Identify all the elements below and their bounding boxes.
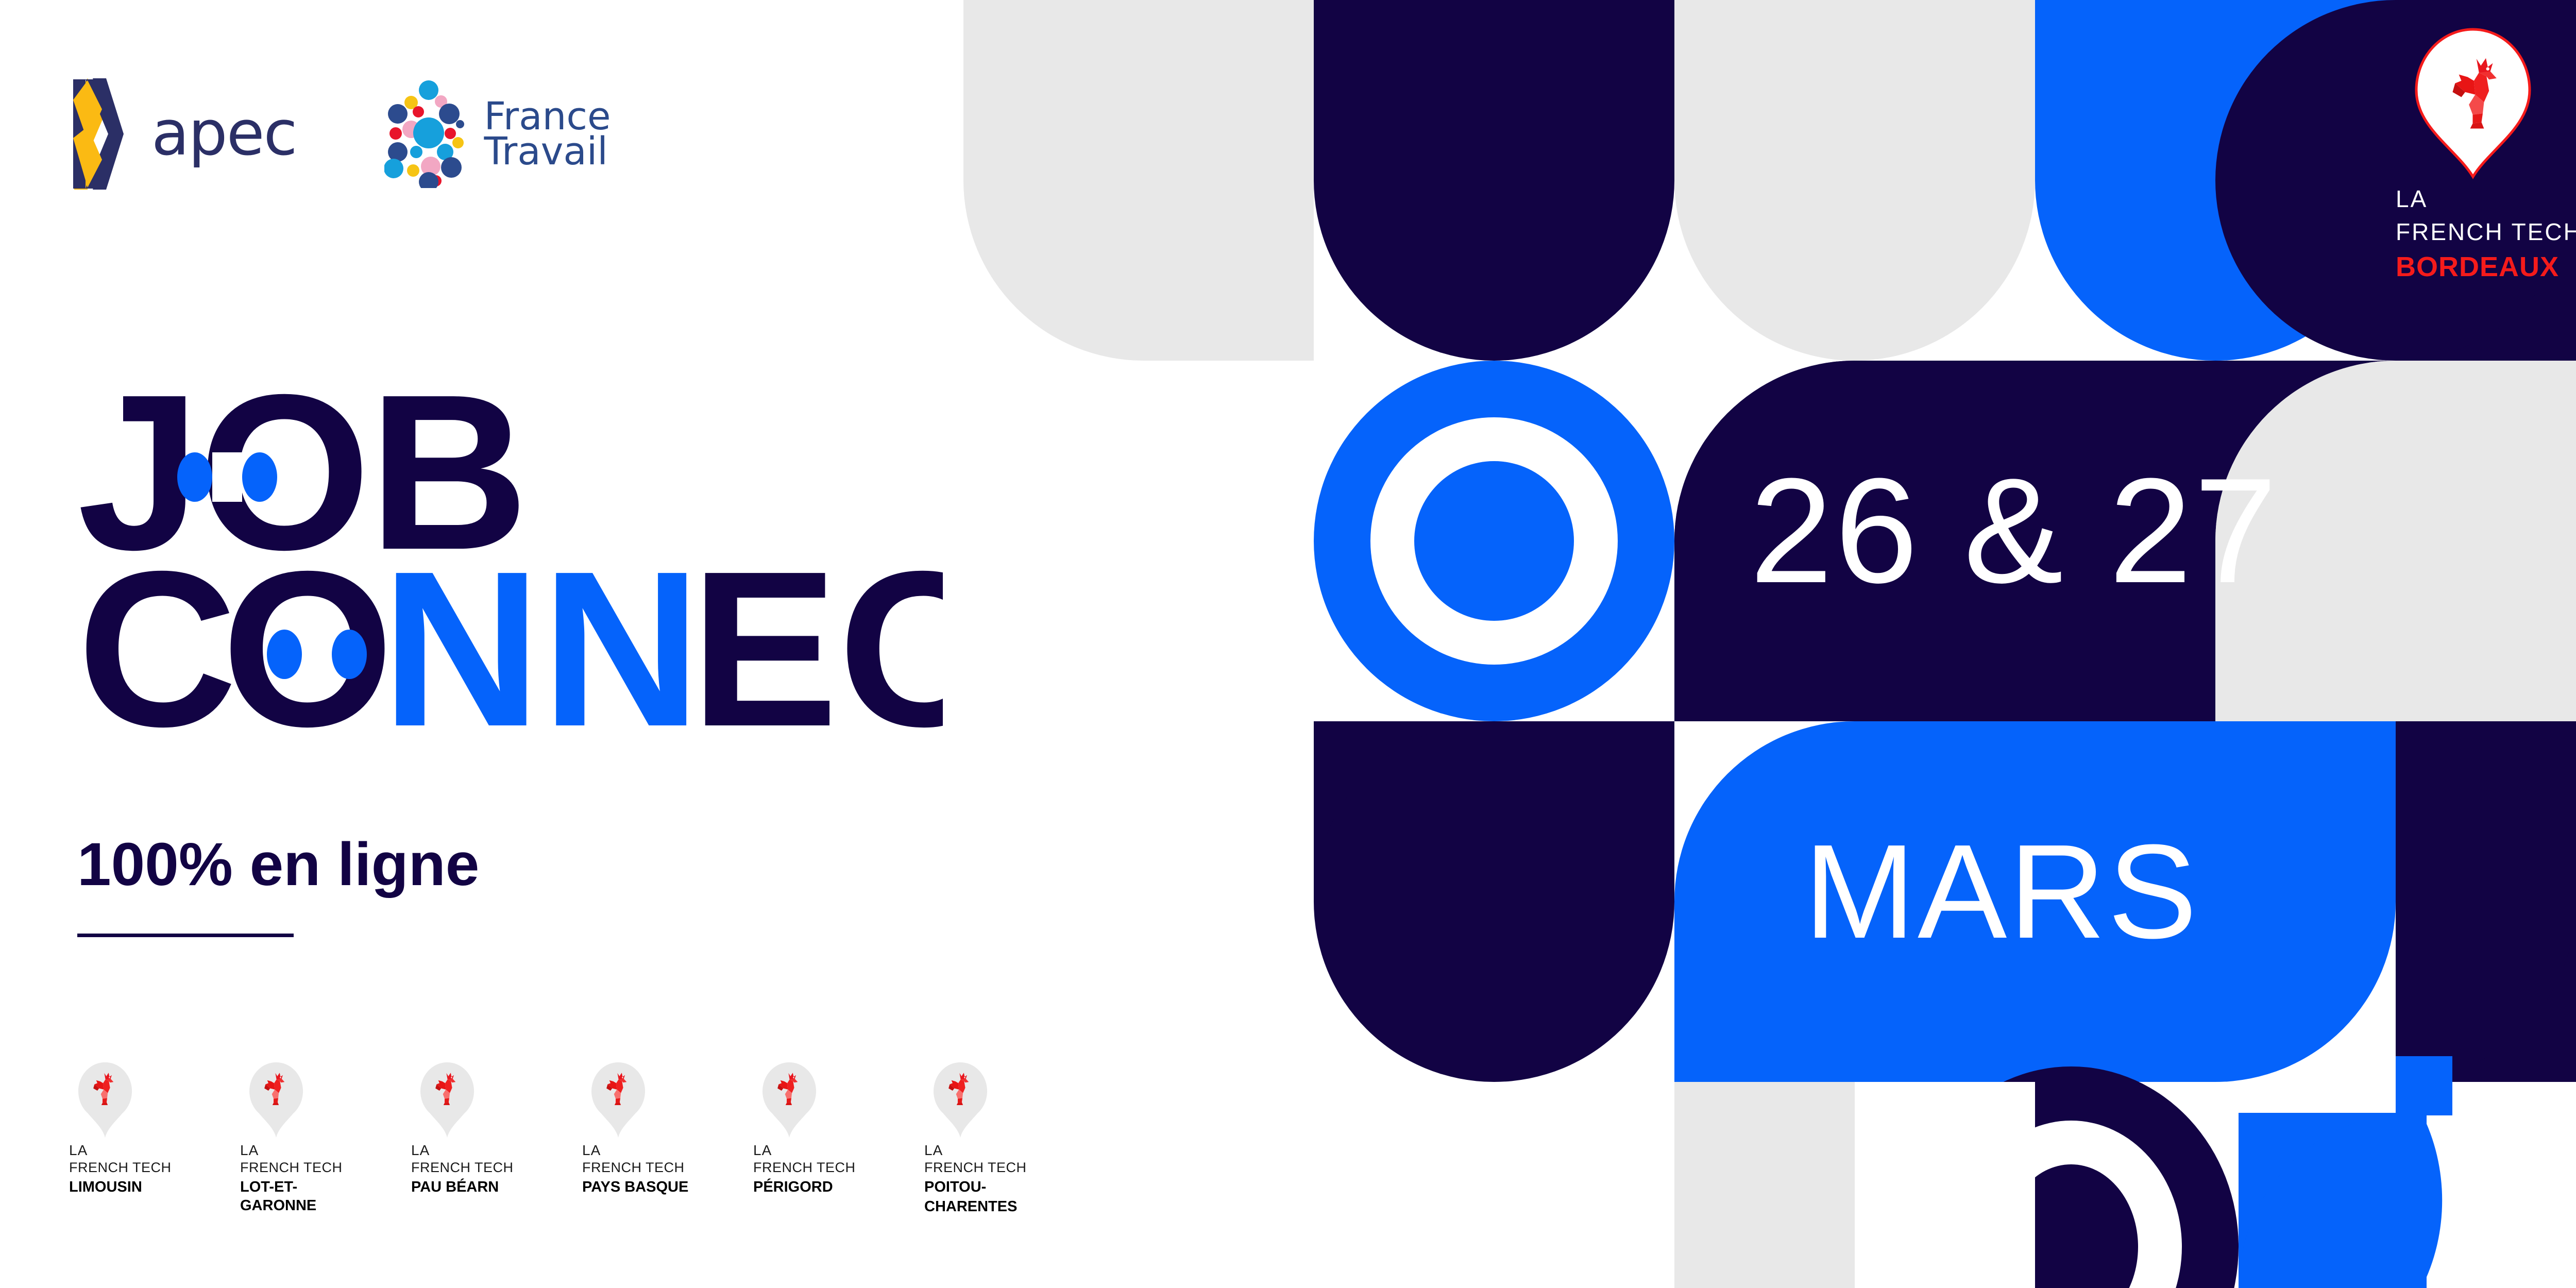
french-tech-rooster-pin-icon [929, 1061, 991, 1139]
shape-blue-ring-r2c2 [1314, 361, 1674, 721]
french-tech-rooster-pin-icon [74, 1061, 136, 1139]
badge-city: BORDEAUX [2396, 251, 2559, 282]
title-job-dot-left [177, 452, 212, 502]
apec-logo: apec [72, 77, 297, 191]
partner-logos: apec [72, 77, 611, 191]
france-travail-dots-logo-icon [384, 80, 472, 188]
gutter-white-3 [1314, 1082, 1674, 1288]
ft-french-tech-text: FRENCH TECH [411, 1159, 522, 1177]
french-tech-community-label: LA FRENCH TECH LIMOUSIN [69, 1143, 180, 1196]
ft-city-text: PÉRIGORD [753, 1178, 865, 1196]
french-tech-community-item: LA FRENCH TECH PAYS BASQUE [580, 1061, 693, 1216]
ft-french-tech-text: FRENCH TECH [240, 1159, 351, 1177]
french-tech-community-item: LA FRENCH TECH LIMOUSIN [67, 1061, 180, 1216]
event-dates: 26 & 27 [1750, 447, 2279, 614]
geometric-pattern-panel: 26 & 27 MARS LA FRENCH TECH BORDEAUX [953, 0, 2576, 1288]
tagline-underline [77, 934, 294, 937]
french-tech-community-label: LA FRENCH TECH POITOU- CHARENTES [924, 1143, 1036, 1216]
gutter-white-1 [953, 361, 1314, 721]
ft-la-text: LA [924, 1143, 1036, 1159]
shape-navy-oval-r1c2 [1314, 0, 1674, 361]
france-travail-line2: Travail [484, 134, 611, 169]
gutter-white-4 [1855, 1082, 2035, 1288]
shape-blue-month-block-r [2215, 721, 2396, 1082]
ft-city-text: LIMOUSIN [69, 1178, 180, 1196]
french-tech-community-item: LA FRENCH TECH PÉRIGORD [751, 1061, 865, 1216]
shape-grey-oval-r1c3 [1674, 0, 2035, 361]
left-content-panel: apec [0, 0, 979, 1288]
ft-french-tech-text: FRENCH TECH [69, 1159, 180, 1177]
title-tagline: 100% en ligne [77, 829, 479, 900]
france-travail-line1: France [484, 99, 611, 134]
title-connect-dot-right [332, 630, 367, 679]
french-tech-communities-strip: LA FRENCH TECH LIMOUSIN [67, 1061, 1036, 1216]
ft-french-tech-text: FRENCH TECH [753, 1159, 865, 1177]
title-connect-c1: C [77, 545, 238, 761]
ft-city-text: PAYS BASQUE [582, 1178, 693, 1196]
france-travail-logo: France Travail [384, 80, 611, 188]
ft-la-text: LA [582, 1143, 693, 1159]
title-line-connect: C O NN ECT [77, 545, 943, 761]
apec-chevron-logo-icon [72, 77, 134, 191]
french-tech-rooster-pin-icon [758, 1061, 820, 1139]
title-connect-dot-gap [302, 630, 332, 679]
title-job-dot-gap [212, 452, 242, 502]
french-tech-rooster-pin-icon [245, 1061, 307, 1139]
title-connect-dot-left [267, 630, 302, 679]
french-tech-community-item: LA FRENCH TECH POITOU- CHARENTES [922, 1061, 1036, 1216]
ft-french-tech-text: FRENCH TECH [924, 1159, 1036, 1177]
french-tech-rooster-pin-icon [587, 1061, 649, 1139]
title-connect-art: C O NN ECT [77, 545, 943, 761]
french-tech-community-item: LA FRENCH TECH PAU BÉARN [409, 1061, 522, 1216]
apec-wordmark: apec [151, 103, 297, 165]
title-connect-ect: ECT [690, 545, 943, 761]
ft-city-text: PAU BÉARN [411, 1178, 522, 1196]
shape-blue-edge-sliver [2396, 1056, 2452, 1115]
ft-la-text: LA [753, 1143, 865, 1159]
france-travail-wordmark: France Travail [484, 99, 611, 169]
french-tech-community-label: LA FRENCH TECH PAU BÉARN [411, 1143, 522, 1196]
title-connect-nn: NN [381, 545, 701, 761]
ft-la-text: LA [240, 1143, 351, 1159]
ft-la-text: LA [411, 1143, 522, 1159]
ft-city-text: LOT-ET-GARONNE [240, 1178, 351, 1215]
ft-city-text: POITOU- [924, 1178, 1036, 1196]
badge-la: LA [2396, 185, 2428, 212]
ft-city-text-2: CHARENTES [924, 1197, 1036, 1216]
event-month: MARS [1804, 817, 2199, 967]
badge-french-tech: FRENCH TECH [2396, 218, 2576, 245]
french-tech-community-label: LA FRENCH TECH PAYS BASQUE [582, 1143, 693, 1196]
french-tech-community-label: LA FRENCH TECH PÉRIGORD [753, 1143, 865, 1196]
shape-grey-leaf-r1c1 [963, 0, 1314, 361]
ft-french-tech-text: FRENCH TECH [582, 1159, 693, 1177]
title-job-dot-right [242, 452, 277, 502]
french-tech-rooster-pin-icon [416, 1061, 478, 1139]
ft-la-text: LA [69, 1143, 180, 1159]
french-tech-community-item: LA FRENCH TECH LOT-ET-GARONNE [238, 1061, 351, 1216]
french-tech-community-label: LA FRENCH TECH LOT-ET-GARONNE [240, 1143, 351, 1215]
page-title: JOB C O NN ECT [77, 376, 943, 761]
